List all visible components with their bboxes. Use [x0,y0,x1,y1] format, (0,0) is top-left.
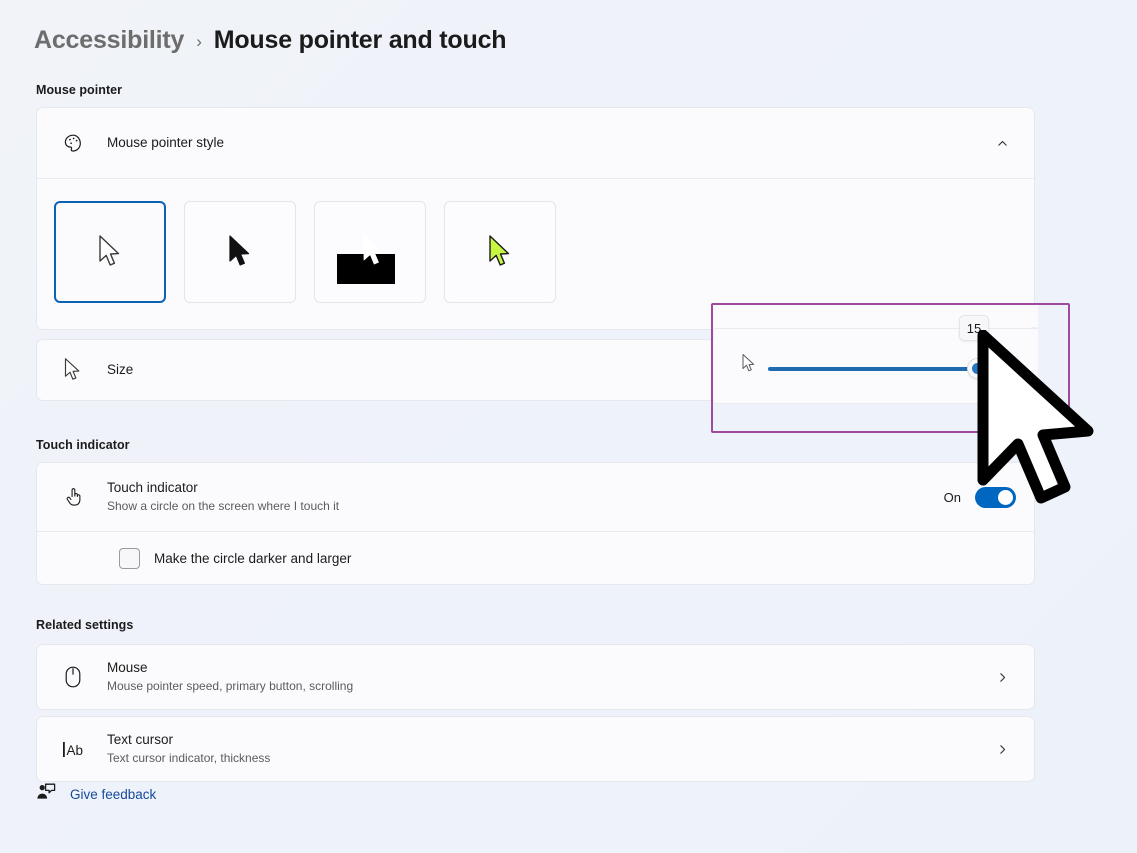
chevron-right-icon[interactable] [988,735,1016,763]
text-cursor-label: Text cursor [107,731,988,749]
pointer-style-option-black[interactable] [184,201,296,303]
chevron-right-icon[interactable] [988,663,1016,691]
feedback-person-icon [36,783,56,806]
touch-indicator-label: Touch indicator [107,479,944,497]
row-touch-indicator[interactable]: Touch indicator Show a circle on the scr… [37,463,1034,531]
toggle-knob [998,490,1013,505]
breadcrumb-separator-icon: › [194,32,203,52]
panel-bg-top [714,305,1038,327]
breadcrumb-root-link[interactable]: Accessibility [34,26,184,55]
touch-indicator-description: Show a circle on the screen where I touc… [107,498,944,515]
cursor-black-icon [226,234,254,270]
pointer-style-option-inverted[interactable] [314,201,426,303]
row-touch-checkbox[interactable]: Make the circle darker and larger [37,532,1034,584]
row-right: On [944,487,1016,508]
size-slider-track-fill [768,367,976,371]
cursor-preview-large-icon [996,350,1018,383]
cursor-custom-color-icon [486,234,514,270]
size-slider[interactable] [768,363,980,375]
size-slider-value-tooltip: 15 [959,315,989,341]
give-feedback-label[interactable]: Give feedback [70,787,156,802]
make-circle-darker-label: Make the circle darker and larger [140,551,351,566]
settings-page: Accessibility › Mouse pointer and touch … [0,0,1137,853]
svg-text:Ab: Ab [67,743,84,758]
row-texts: Mouse pointer style [93,134,988,152]
touch-hand-icon [53,485,93,509]
chevron-up-icon[interactable] [988,129,1016,157]
row-mouse-pointer-style[interactable]: Mouse pointer style [37,108,1034,178]
row-texts: Mouse Mouse pointer speed, primary butto… [93,659,988,696]
text-cursor-description: Text cursor indicator, thickness [107,750,988,767]
pointer-style-option-custom[interactable] [444,201,556,303]
toggle-state-label: On [944,490,961,505]
row-texts: Touch indicator Show a circle on the scr… [93,479,944,516]
size-slider-highlight-region: 15 [711,303,1070,433]
mouse-label: Mouse [107,659,988,677]
page-title: Mouse pointer and touch [214,26,507,55]
row-mouse[interactable]: Mouse Mouse pointer speed, primary butto… [37,645,1034,709]
row-right [988,663,1016,691]
section-heading-touch-indicator: Touch indicator [36,438,130,452]
section-heading-related-settings: Related settings [36,618,133,632]
mouse-pointer-style-label: Mouse pointer style [107,134,988,152]
cursor-white-icon [96,234,124,270]
row-texts: Text cursor Text cursor indicator, thick… [93,731,988,768]
mouse-icon [53,665,93,689]
size-slider-thumb[interactable] [967,358,988,379]
mouse-description: Mouse pointer speed, primary button, scr… [107,678,988,695]
card-related-mouse[interactable]: Mouse Mouse pointer speed, primary butto… [36,644,1035,710]
text-cursor-icon: Ab [53,738,93,760]
give-feedback[interactable]: Give feedback [36,783,156,806]
size-slider-panel: 15 [713,305,1068,431]
row-text-cursor[interactable]: Ab Text cursor Text cursor indicator, th… [37,717,1034,781]
row-right [988,129,1016,157]
pointer-style-option-white[interactable] [54,201,166,303]
make-circle-darker-checkbox[interactable] [119,548,140,569]
card-related-text-cursor[interactable]: Ab Text cursor Text cursor indicator, th… [36,716,1035,782]
breadcrumb: Accessibility › Mouse pointer and touch [34,26,506,55]
palette-icon [53,131,93,155]
section-heading-mouse-pointer: Mouse pointer [36,83,122,97]
row-right [988,735,1016,763]
cursor-arrow-icon [53,357,93,383]
card-mouse-pointer-style: Mouse pointer style [36,107,1035,330]
touch-indicator-toggle[interactable] [975,487,1016,508]
cursor-inverted-icon [360,233,388,269]
cursor-preview-small-icon [741,353,757,379]
card-touch-indicator: Touch indicator Show a circle on the scr… [36,462,1035,585]
